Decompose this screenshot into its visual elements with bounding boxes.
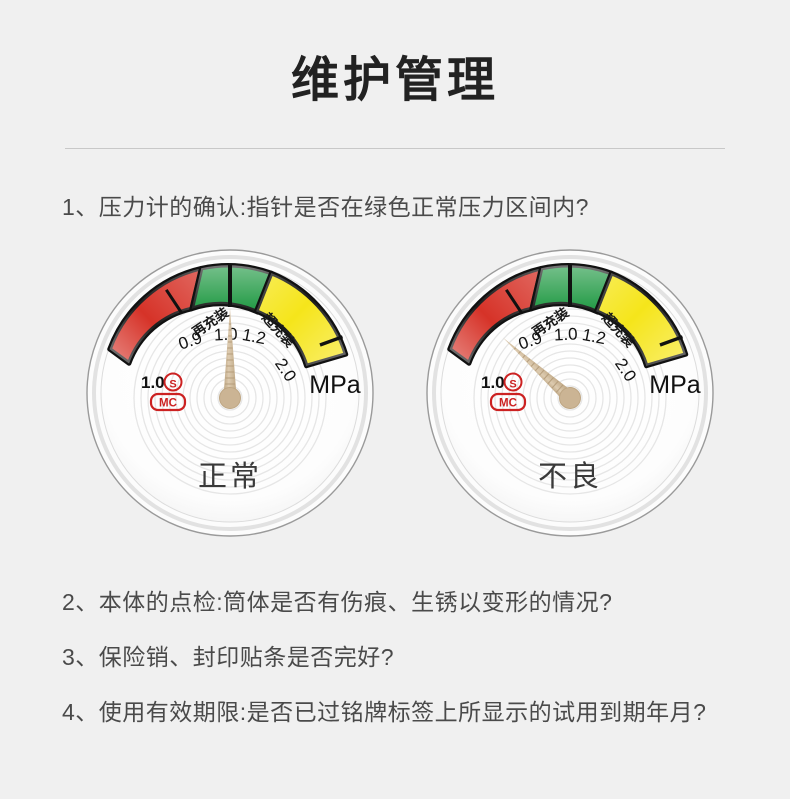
scale-tick-1: 1.0 <box>213 324 238 344</box>
unit-label: MPa <box>649 371 701 399</box>
cert-value: 1.0 <box>141 373 165 392</box>
title-divider <box>65 148 725 149</box>
cert-mark-mc: MC <box>499 398 517 410</box>
bad-gauge: 再充装 超充装 0.9 1.0 1.2 2.0 MPa 1.0 S MC <box>425 248 715 538</box>
unit-label: MPa <box>309 371 361 399</box>
gauge-comparison-row: 再充装 超充装 0.9 1.0 1.2 2.0 MPa 1.0 S MC <box>0 248 790 548</box>
checklist-item-1: 1、压力计的确认:指针是否在绿色正常压力区间内? <box>62 188 589 222</box>
checklist-item-4: 4、使用有效期限:是否已过铭牌标签上所显示的试用到期年月? <box>62 693 706 727</box>
checklist-item-2: 2、本体的点检:筒体是否有伤痕、生锈以变形的情况? <box>62 583 612 617</box>
checklist-item-3: 3、保险销、封印贴条是否完好? <box>62 638 394 672</box>
normal-gauge: 再充装 超充装 0.9 1.0 1.2 2.0 MPa 1.0 S MC <box>85 248 375 538</box>
cert-mark-mc: MC <box>159 398 177 410</box>
scale-tick-1: 1.0 <box>553 324 578 344</box>
cert-value: 1.0 <box>481 373 505 392</box>
cert-mark-s: S <box>169 379 176 391</box>
cert-mark-s: S <box>509 379 516 391</box>
needle-hub <box>220 388 241 409</box>
page-title: 维护管理 <box>0 0 790 108</box>
